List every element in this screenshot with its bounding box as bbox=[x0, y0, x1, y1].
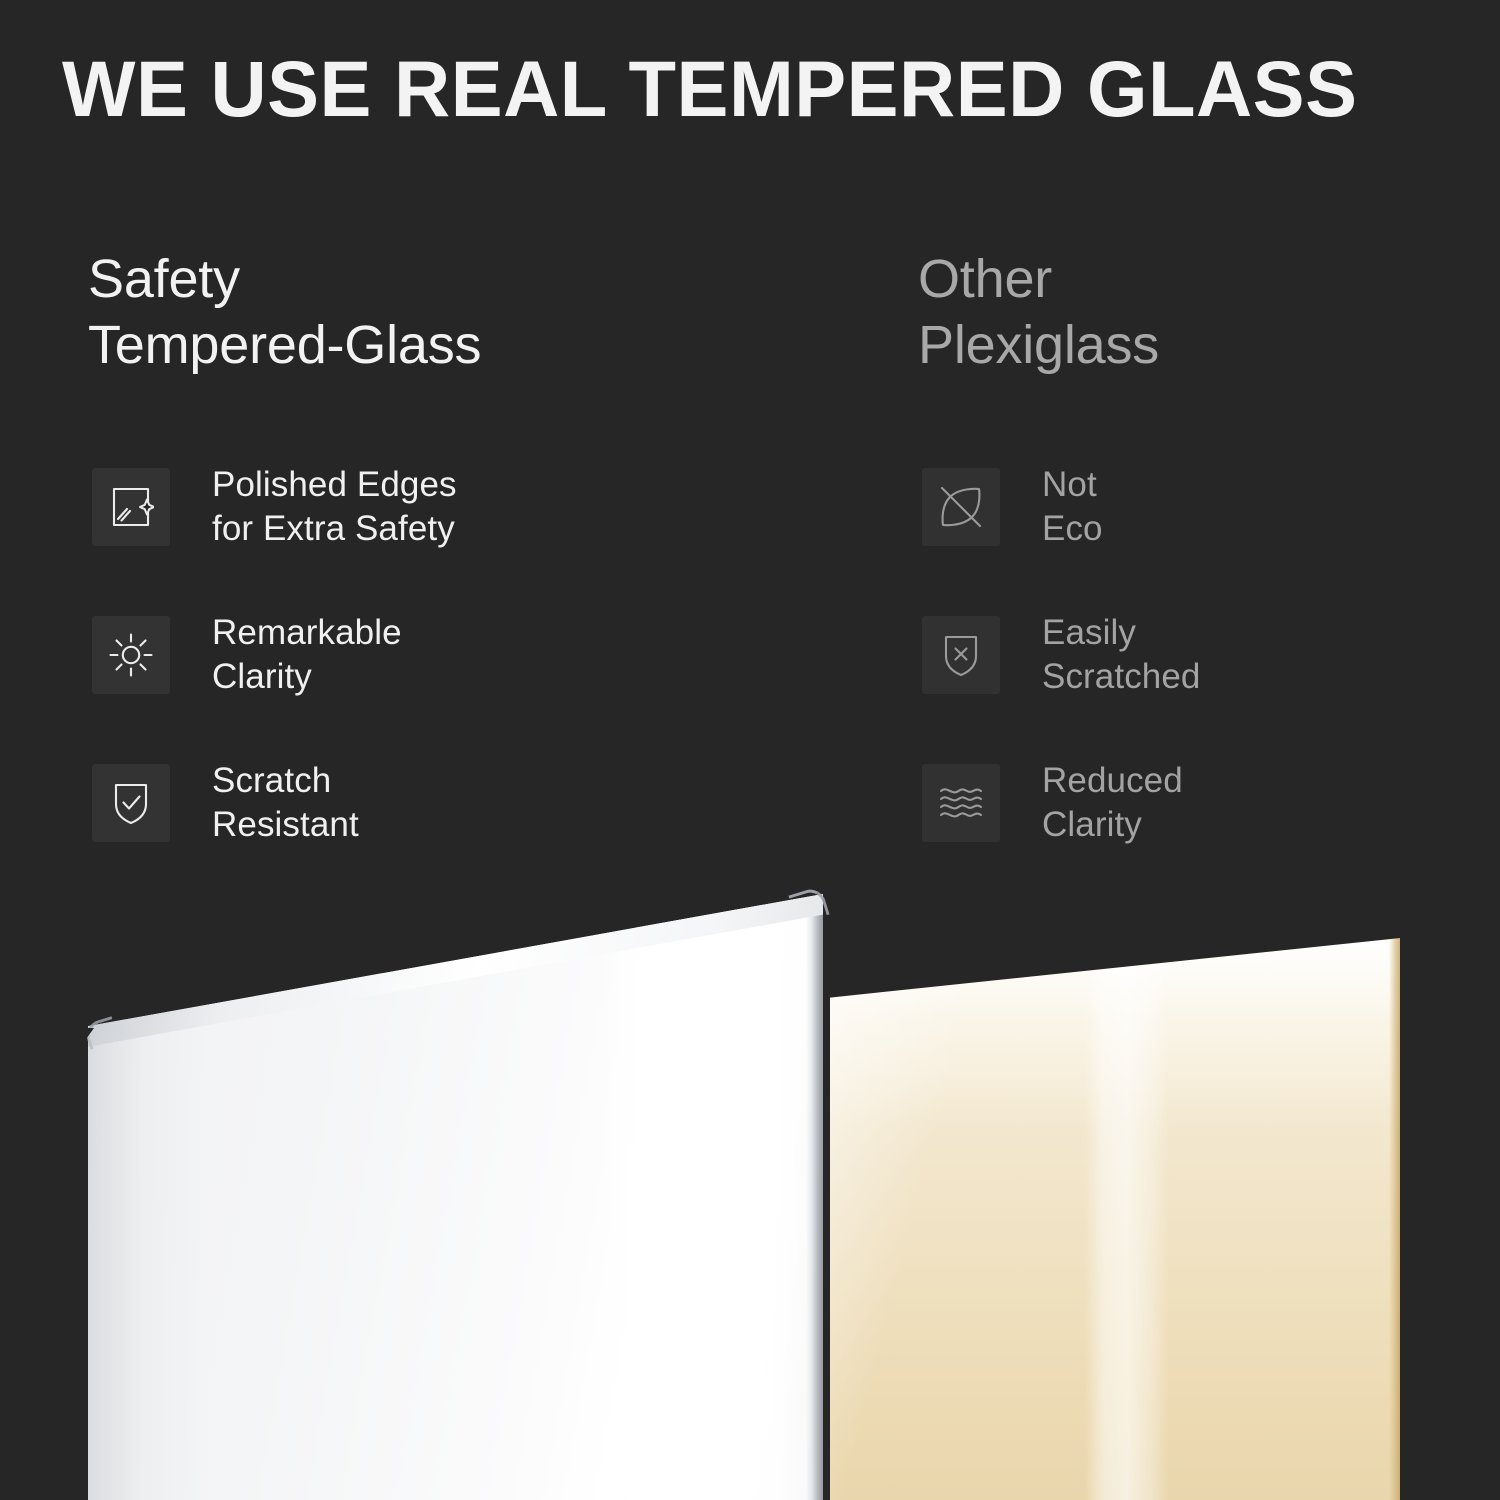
wavy-lines-icon bbox=[922, 764, 1000, 842]
feature-list-tempered-glass: Polished Edges for Extra Safety Remarkab… bbox=[92, 468, 832, 842]
column-heading-plexiglass: Other Plexiglass bbox=[918, 246, 1478, 378]
plexiglass-right-edge bbox=[1389, 938, 1400, 1500]
feature-row-not-eco: Not Eco bbox=[922, 468, 1482, 546]
comparison-column-tempered-glass: Safety Tempered-Glass Polished Edges for… bbox=[88, 246, 828, 378]
comparison-column-plexiglass: Other Plexiglass Not Eco bbox=[918, 246, 1478, 378]
tempered-glass-top-right-corner bbox=[788, 886, 829, 925]
shield-x-icon bbox=[922, 616, 1000, 694]
leaf-crossed-out-icon bbox=[922, 468, 1000, 546]
feature-label-remarkable-clarity: Remarkable Clarity bbox=[212, 611, 402, 699]
tempered-glass-reflection-band bbox=[598, 894, 808, 1500]
product-photo-area bbox=[0, 860, 1500, 1500]
plexiglass-reflection-band bbox=[1085, 938, 1169, 1500]
column-heading-tempered-glass: Safety Tempered-Glass bbox=[88, 246, 828, 378]
feature-label-not-eco: Not Eco bbox=[1042, 463, 1103, 551]
feature-row-reduced-clarity: Reduced Clarity bbox=[922, 764, 1482, 842]
polished-glass-pane-sparkle-icon bbox=[92, 468, 170, 546]
feature-row-polished-edges: Polished Edges for Extra Safety bbox=[92, 468, 832, 546]
yellowed-plexiglass-panel bbox=[830, 938, 1400, 1500]
clear-tempered-glass-panel bbox=[88, 894, 823, 1500]
infographic-root: WE USE REAL TEMPERED GLASS Safety Temper… bbox=[0, 0, 1500, 1500]
tempered-glass-right-edge bbox=[806, 894, 823, 1500]
feature-label-easily-scratched: Easily Scratched bbox=[1042, 611, 1201, 699]
feature-row-remarkable-clarity: Remarkable Clarity bbox=[92, 616, 832, 694]
tempered-glass-left-shading bbox=[88, 894, 208, 1500]
page-title: WE USE REAL TEMPERED GLASS bbox=[62, 42, 1441, 136]
feature-label-scratch-resistant: Scratch Resistant bbox=[212, 759, 359, 847]
sun-clarity-icon bbox=[92, 616, 170, 694]
feature-row-scratch-resistant: Scratch Resistant bbox=[92, 764, 832, 842]
shield-check-icon bbox=[92, 764, 170, 842]
feature-row-easily-scratched: Easily Scratched bbox=[922, 616, 1482, 694]
feature-label-reduced-clarity: Reduced Clarity bbox=[1042, 759, 1183, 847]
feature-label-polished-edges: Polished Edges for Extra Safety bbox=[212, 463, 457, 551]
feature-list-plexiglass: Not Eco Easily Scratched bbox=[922, 468, 1482, 842]
